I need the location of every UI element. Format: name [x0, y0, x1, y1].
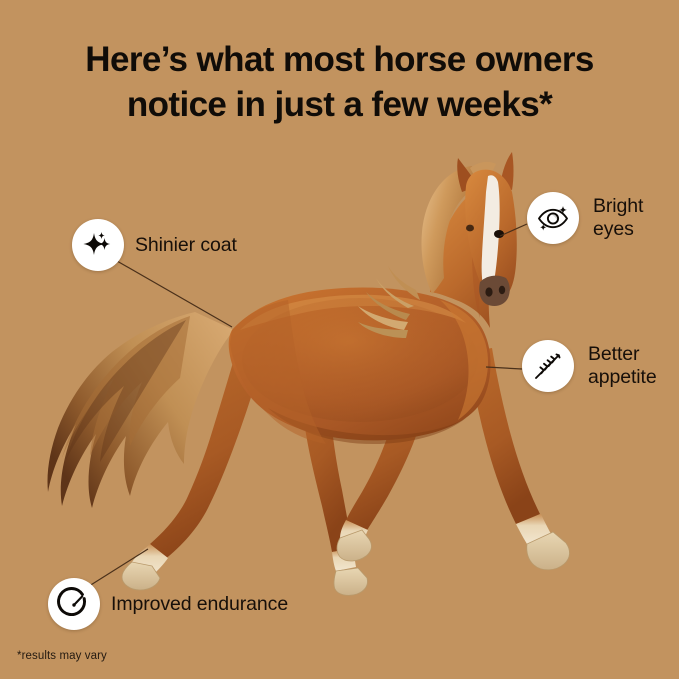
callout-label-shinier-coat: Shinier coat [135, 234, 237, 257]
callout-label-bright-eyes: Bright eyes [593, 195, 643, 240]
callout-label-better-appetite: Better appetite [588, 343, 657, 388]
callout-better-appetite: Better appetite [522, 340, 657, 392]
callout-improved-endurance: Improved endurance [48, 578, 288, 630]
footnote-disclaimer: *results may vary [17, 650, 107, 662]
wheat-icon [522, 340, 574, 392]
callout-bright-eyes: Bright eyes [527, 192, 643, 244]
stopwatch-icon [48, 578, 100, 630]
callout-shinier-coat: Shinier coat [72, 219, 237, 271]
page-title: Here’s what most horse owners notice in … [0, 38, 679, 128]
callout-label-improved-endurance: Improved endurance [111, 593, 288, 616]
eye-sparkle-icon [527, 192, 579, 244]
sparkles-icon [72, 219, 124, 271]
headline-line-2: notice in just a few weeks* [0, 83, 679, 128]
horse-body [229, 288, 491, 445]
headline-line-1: Here’s what most horse owners [0, 38, 679, 83]
infographic-poster: Here’s what most horse owners notice in … [0, 0, 679, 679]
